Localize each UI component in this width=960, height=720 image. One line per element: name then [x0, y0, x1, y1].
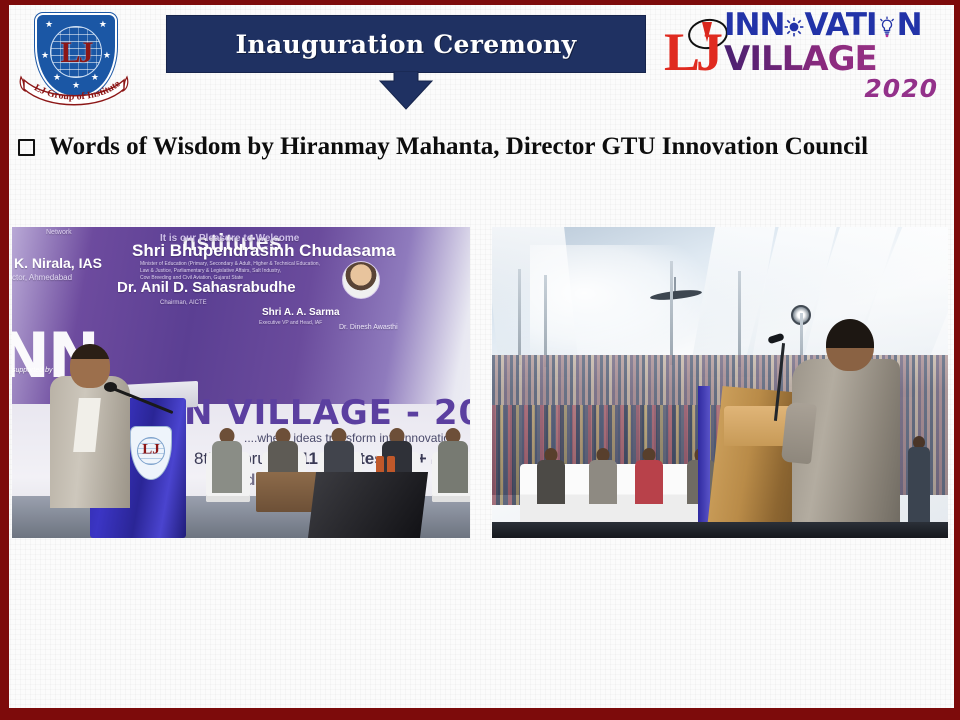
backdrop-portrait — [342, 261, 380, 299]
backdrop-text-dinesh: Dr. Dinesh Awasthi — [339, 324, 398, 331]
event-logo-lj: LJ — [664, 25, 719, 79]
event-logo-line1: INNVATIN — [724, 9, 942, 42]
event-logo-year: 2020 — [724, 76, 942, 102]
lightbulb-icon — [877, 12, 897, 34]
microphone-icon — [104, 382, 117, 392]
backdrop-text-anil: Dr. Anil D. Sahasrabudhe — [117, 279, 296, 296]
podium-edge — [698, 386, 710, 538]
event-logo-line1-pre: INN — [724, 7, 784, 43]
event-logo-line1-post: N — [897, 7, 922, 43]
tent-pole — [670, 261, 673, 365]
loudspeaker — [308, 472, 428, 538]
bullet-list-item: Words of Wisdom by Hiranmay Mahanta, Dir… — [18, 128, 943, 166]
bullet-item-label: Words of Wisdom by Hiranmay Mahanta, Dir… — [49, 133, 868, 161]
person-body — [908, 447, 930, 525]
event-logo-line2: VILLAGE — [724, 42, 942, 76]
slide: LJ ★ ★ ★ ★ ★ ★ ★ LJ Group of Institutes — [0, 0, 960, 720]
ceiling-light-glow — [530, 245, 710, 365]
backdrop-text-minister-1: Minister of Education (Primary, Secondar… — [140, 261, 320, 267]
seated-dignitary — [436, 428, 470, 492]
star-icon: ★ — [99, 20, 107, 29]
title-banner: Inauguration Ceremony — [166, 15, 646, 73]
event-logo-wordmark: INNVATIN VILLAGE 2020 — [724, 9, 942, 102]
lj-monogram: LJ — [60, 36, 91, 70]
slide-border-bottom — [0, 708, 960, 720]
lj-pen-mark: LJ — [664, 17, 728, 93]
slide-border-right — [954, 0, 960, 720]
tent-pole — [738, 271, 741, 367]
person-body — [438, 441, 468, 493]
backdrop-village-text: N VILLAGE - 2020 — [184, 393, 470, 433]
front-row-guest — [534, 448, 568, 504]
star-icon: ★ — [103, 51, 111, 60]
crest-monogram: LJ — [142, 441, 160, 458]
innovation-village-logo: LJ INNVATIN VILLAGE 2020 — [662, 7, 942, 109]
slide-border-left — [0, 0, 9, 720]
backdrop-text-network: Network — [46, 229, 72, 236]
star-icon: ★ — [41, 51, 49, 60]
backdrop-text-sarma: Shri A. A. Sarma — [262, 307, 340, 318]
backdrop-text-sarma-sub: Executive VP and Head, IAF — [259, 320, 322, 326]
tent-pole — [544, 275, 547, 367]
tent-pole — [518, 269, 521, 365]
square-bullet-icon — [18, 139, 35, 156]
gear-sun-icon — [784, 11, 804, 31]
page-title: Inauguration Ceremony — [236, 30, 577, 59]
event-logo-line1-mid: VATI — [804, 7, 876, 43]
photo-left: nstitutes It is our Pleasure to Welcome … — [12, 227, 470, 538]
person-body — [537, 460, 565, 504]
speaker-arm — [781, 402, 817, 465]
backdrop-text-anil-sub: Chairman, AICTE — [160, 300, 207, 306]
logo-ribbon: LJ Group of Institutes — [17, 67, 131, 111]
backdrop-text-nirala-sub: ctor, Ahmedabad — [12, 273, 72, 282]
front-row-guest — [586, 448, 620, 504]
lj-group-logo: LJ ★ ★ ★ ★ ★ ★ ★ LJ Group of Institutes — [15, 9, 133, 117]
seated-dignitary — [210, 428, 244, 492]
person-body — [635, 460, 663, 504]
speaker-head — [70, 344, 110, 388]
backdrop-text-minister-2: Law & Justice, Parliamentary & Legislati… — [140, 268, 281, 274]
speaker-head — [826, 319, 874, 371]
stage-floor — [492, 522, 948, 538]
slide-header: LJ ★ ★ ★ ★ ★ ★ ★ LJ Group of Institutes — [9, 5, 954, 123]
standing-attendee — [906, 436, 932, 524]
person-body — [589, 460, 617, 504]
backdrop-text-nirala: K. Nirala, IAS — [14, 255, 102, 271]
down-arrow-icon — [366, 71, 446, 111]
person-body — [212, 441, 242, 493]
backdrop-text-chief-guest: Shri Bhupendrasinh Chudasama — [132, 241, 396, 261]
front-row-guest — [632, 448, 666, 504]
star-icon: ★ — [45, 20, 53, 29]
photo-right — [492, 227, 948, 538]
